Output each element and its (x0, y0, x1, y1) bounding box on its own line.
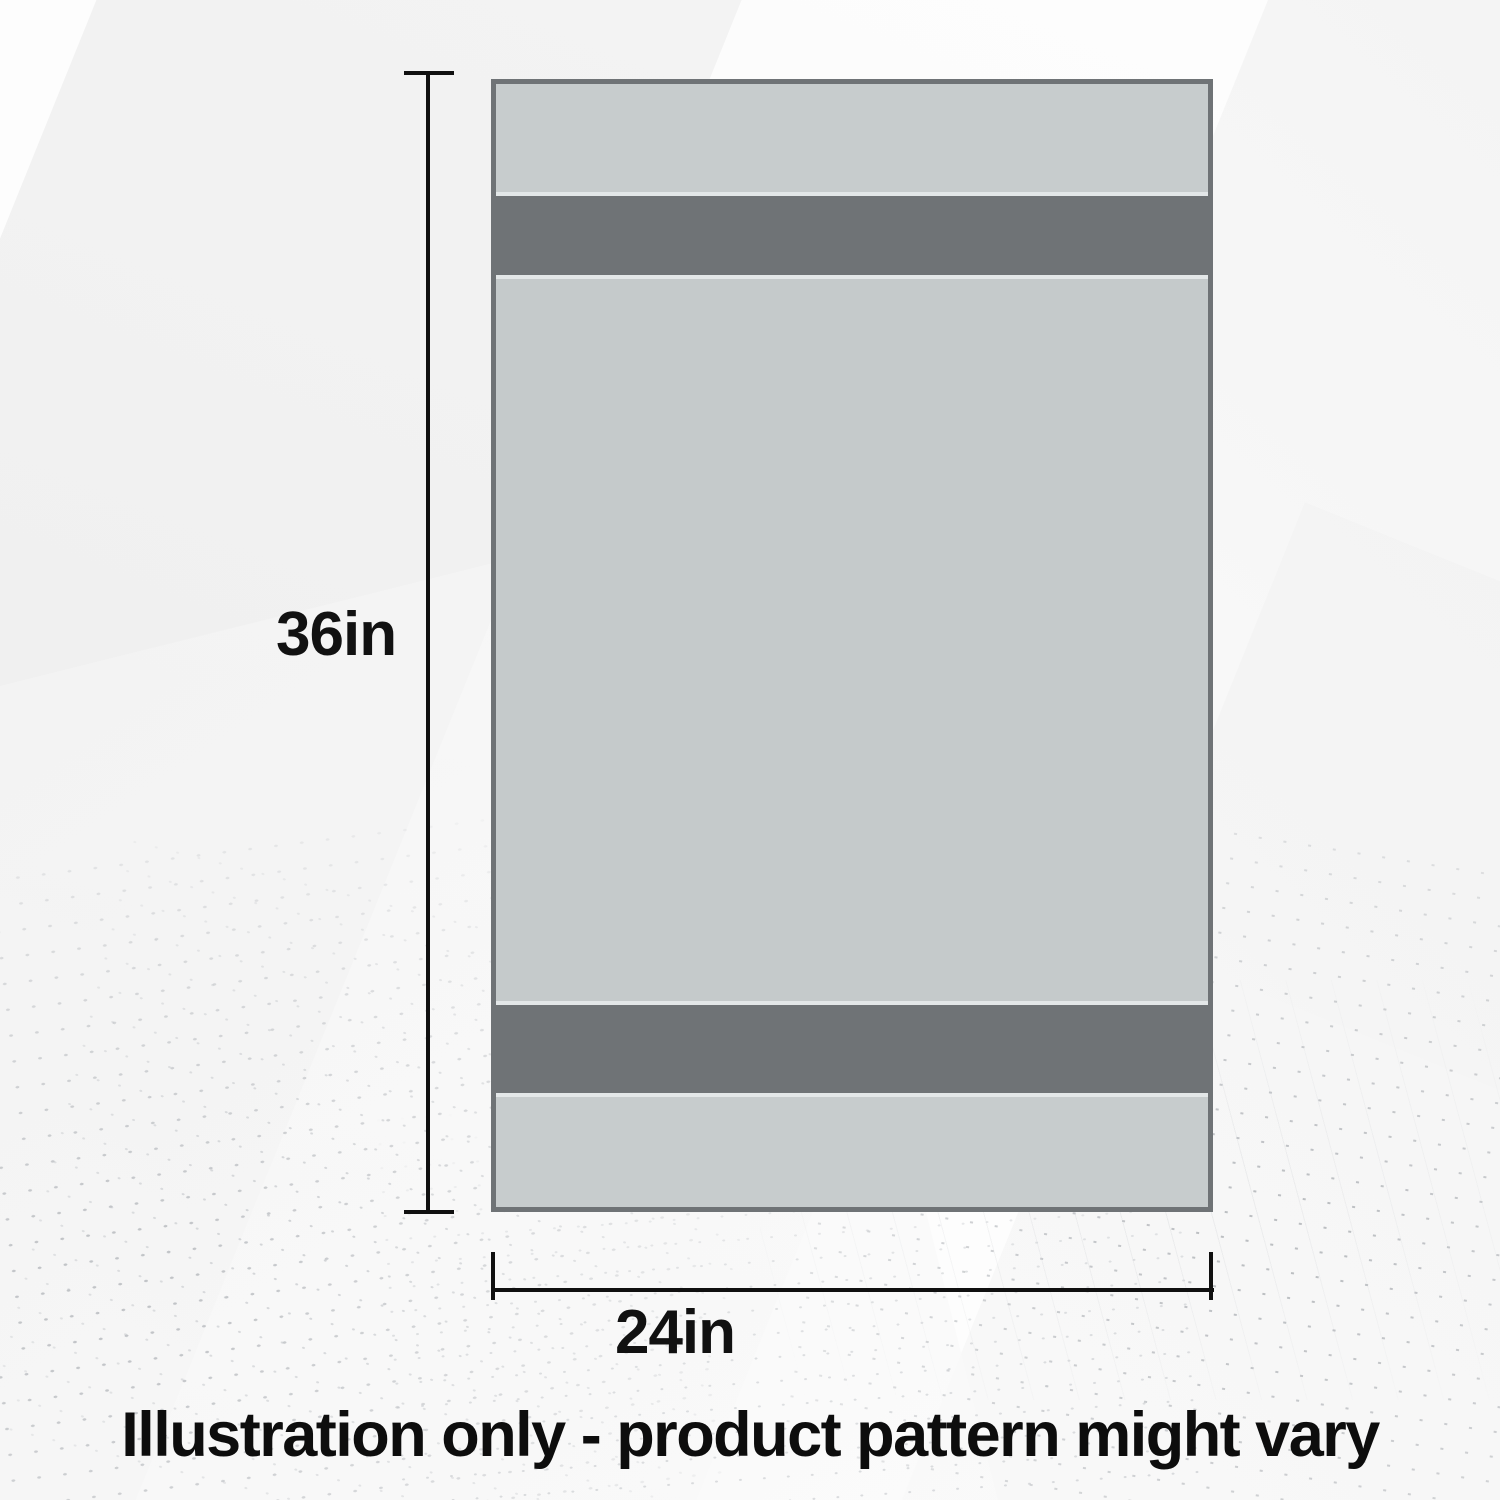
height-dimension-line (426, 73, 430, 1214)
width-dimension-cap-left (491, 1252, 495, 1300)
height-dimension-label: 36in (276, 604, 396, 666)
towel-seam-line-1 (496, 192, 1208, 196)
product-illustration-towel (491, 79, 1213, 1212)
towel-body-panel (496, 279, 1208, 1005)
width-dimension-label: 24in (0, 1302, 1425, 1364)
illustration-canvas: 36in 24in Illustration only - product pa… (0, 0, 1500, 1500)
towel-band-bottom-light (496, 1097, 1208, 1207)
towel-seam-line-2 (496, 275, 1208, 279)
towel-seam-line-4 (496, 1093, 1208, 1097)
towel-stripe-top-dark (496, 196, 1208, 279)
illustration-disclaimer-caption: Illustration only - product pattern migh… (0, 1404, 1500, 1467)
width-dimension-cap-right (1209, 1252, 1213, 1300)
height-dimension-cap-top (404, 71, 454, 75)
towel-seam-line-3 (496, 1001, 1208, 1005)
width-dimension-line (492, 1288, 1214, 1292)
towel-stripe-bottom-dark (496, 1005, 1208, 1097)
towel-band-top-light (496, 84, 1208, 196)
height-dimension-cap-bottom (404, 1210, 454, 1214)
